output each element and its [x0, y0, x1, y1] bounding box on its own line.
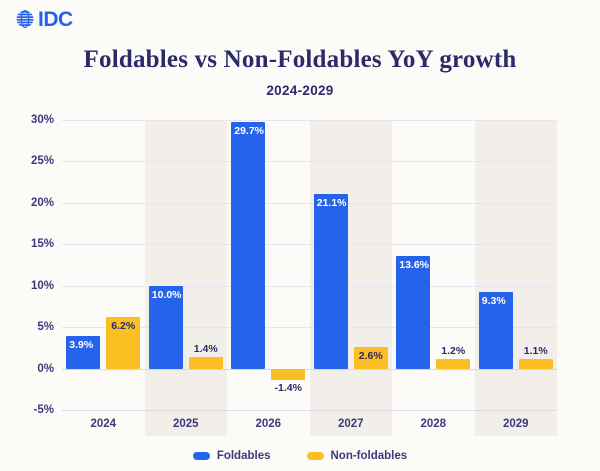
bar-value-label: 6.2%	[106, 320, 140, 332]
bar-value-label: 9.3%	[479, 295, 516, 307]
bar-value-label: 1.4%	[189, 343, 223, 355]
bar-value-label: 2.6%	[354, 350, 388, 362]
bar-foldables-2026[interactable]	[231, 122, 265, 368]
idc-globe-icon	[14, 8, 36, 30]
yaxis-tick-label: -5%	[34, 404, 54, 416]
bar-group: 21.1%2.6%	[310, 120, 393, 410]
yaxis-tick-label: 0%	[37, 363, 54, 375]
bar-group: 13.6%1.2%	[392, 120, 475, 410]
legend-label: Foldables	[217, 450, 271, 462]
bar-value-label: 10.0%	[149, 289, 186, 301]
yaxis-tick-label: 25%	[31, 155, 54, 167]
bar-value-label: 1.2%	[436, 345, 470, 357]
bar-value-label: 13.6%	[396, 259, 433, 271]
yaxis-tick-label: 5%	[37, 321, 54, 333]
yaxis-tick-label: 20%	[31, 197, 54, 209]
bar-non-foldables-2029[interactable]	[519, 359, 553, 368]
bar-value-label: 1.1%	[519, 345, 553, 357]
chart-legend: FoldablesNon-foldables	[0, 450, 600, 462]
xaxis-tick-label-2026: 2026	[227, 411, 310, 437]
page-title: Foldables vs Non-Foldables YoY growth	[0, 46, 600, 74]
legend-swatch-icon	[307, 452, 324, 460]
bar-foldables-2028[interactable]	[396, 256, 430, 369]
xaxis-tick-label-2027: 2027	[310, 411, 393, 437]
bar-group: 3.9%6.2%	[62, 120, 145, 410]
idc-logo: IDC	[14, 8, 73, 30]
yaxis-tick-label: 30%	[31, 114, 54, 126]
bar-groups: 3.9%6.2%10.0%1.4%29.7%-1.4%21.1%2.6%13.6…	[62, 120, 557, 410]
xaxis-tick-label-2024: 2024	[62, 411, 145, 437]
bar-group: 10.0%1.4%	[145, 120, 228, 410]
xaxis-tick-label-2029: 2029	[475, 411, 558, 437]
bar-foldables-2027[interactable]	[314, 194, 348, 369]
legend-label: Non-foldables	[331, 450, 408, 462]
xaxis-tick-label-2025: 2025	[145, 411, 228, 437]
bar-group: 9.3%1.1%	[475, 120, 558, 410]
yaxis-tick-label: 10%	[31, 280, 54, 292]
legend-swatch-icon	[193, 452, 210, 460]
xaxis-tick-labels: 202420252026202720282029	[62, 410, 557, 437]
bar-non-foldables-2026[interactable]	[271, 369, 305, 381]
page-subtitle: 2024-2029	[0, 83, 600, 98]
bar-value-label: -1.4%	[271, 382, 305, 394]
bar-non-foldables-2025[interactable]	[189, 357, 223, 369]
idc-logo-text: IDC	[38, 9, 73, 30]
legend-item-non-foldables[interactable]: Non-foldables	[307, 450, 408, 462]
legend-item-foldables[interactable]: Foldables	[193, 450, 271, 462]
bar-value-label: 29.7%	[231, 125, 268, 137]
bar-value-label: 21.1%	[314, 197, 351, 209]
chart-plot-area: 30%25%20%15%10%5%0%-5% 3.9%6.2%10.0%1.4%…	[62, 120, 557, 410]
bar-value-label: 3.9%	[66, 339, 103, 351]
bar-non-foldables-2028[interactable]	[436, 359, 470, 369]
xaxis-tick-label-2028: 2028	[392, 411, 475, 437]
yaxis-tick-label: 15%	[31, 238, 54, 250]
bar-group: 29.7%-1.4%	[227, 120, 310, 410]
